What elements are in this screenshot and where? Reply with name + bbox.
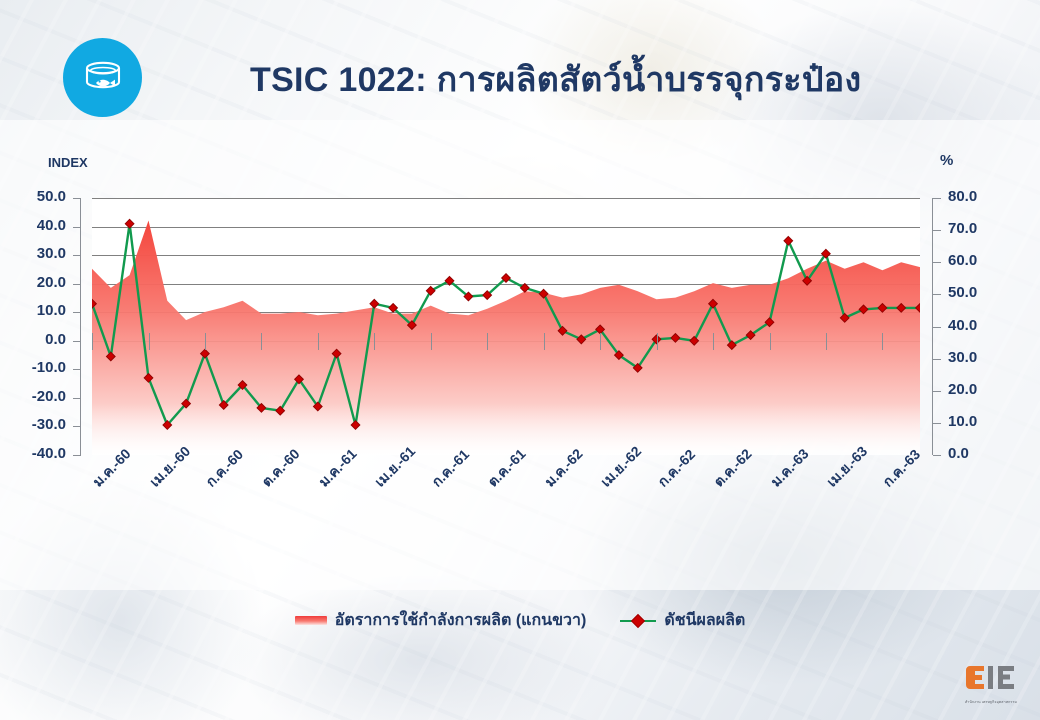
oie-caption-th1: สำนักงาน bbox=[965, 700, 981, 704]
axis-spine bbox=[80, 198, 81, 455]
y2-tick bbox=[933, 359, 941, 360]
y2-tick-label: 10.0 bbox=[948, 413, 1018, 430]
x-tick bbox=[826, 333, 827, 350]
x-tick bbox=[374, 333, 375, 350]
y-tick-label: 30.0 bbox=[0, 245, 66, 262]
page-title: TSIC 1022: การผลิตสัตว์น้ำบรรจุกระป๋อง bbox=[250, 52, 900, 106]
y-tick bbox=[73, 398, 81, 399]
legend-item-production-index[interactable]: ดัชนีผลผลิต bbox=[620, 608, 745, 633]
y2-tick bbox=[933, 230, 941, 231]
x-tick bbox=[487, 333, 488, 350]
y2-tick-label: 50.0 bbox=[948, 284, 1018, 301]
data-point-marker bbox=[426, 286, 435, 295]
y-tick-label: -10.0 bbox=[0, 359, 66, 376]
oie-logo: สำนักงาน เศรษฐกิจอุตสาหกรรม bbox=[952, 660, 1030, 712]
x-tick bbox=[770, 333, 771, 350]
y-tick-label: 0.0 bbox=[0, 331, 66, 348]
y2-tick bbox=[933, 423, 941, 424]
x-tick bbox=[318, 333, 319, 350]
y2-tick bbox=[933, 391, 941, 392]
x-tick bbox=[261, 333, 262, 350]
y2-tick bbox=[933, 327, 941, 328]
y-tick-label: 50.0 bbox=[0, 188, 66, 205]
y2-tick-label: 80.0 bbox=[948, 188, 1018, 205]
x-tick bbox=[149, 333, 150, 350]
plot-area bbox=[92, 198, 920, 455]
y2-tick-label: 30.0 bbox=[948, 349, 1018, 366]
y-tick-label: 20.0 bbox=[0, 274, 66, 291]
y2-tick-label: 20.0 bbox=[948, 381, 1018, 398]
oie-logo-caption: สำนักงาน เศรษฐกิจอุตสาหกรรม bbox=[952, 700, 1030, 705]
y2-tick-label: 40.0 bbox=[948, 317, 1018, 334]
x-tick bbox=[431, 333, 432, 350]
right-axis-caption: % bbox=[940, 152, 953, 169]
y2-tick-label: 70.0 bbox=[948, 220, 1018, 237]
chart-legend: อัตราการใช้กำลังการผลิต (แกนขวา) ดัชนีผล… bbox=[0, 608, 1040, 633]
x-tick bbox=[92, 333, 93, 350]
y-tick bbox=[73, 198, 81, 199]
data-point-marker bbox=[370, 299, 379, 308]
x-tick bbox=[657, 333, 658, 350]
data-point-marker bbox=[784, 236, 793, 245]
y2-tick bbox=[933, 198, 941, 199]
y-tick-label: -40.0 bbox=[0, 445, 66, 462]
y2-tick bbox=[933, 294, 941, 295]
area-swatch-icon bbox=[295, 616, 327, 625]
canned-fish-icon bbox=[63, 38, 142, 117]
x-tick bbox=[600, 333, 601, 350]
y-tick-label: 40.0 bbox=[0, 217, 66, 234]
y-tick bbox=[73, 455, 81, 456]
chart-canvas bbox=[92, 198, 920, 455]
y-tick-label: -30.0 bbox=[0, 416, 66, 433]
y2-tick-label: 60.0 bbox=[948, 252, 1018, 269]
y2-tick-label: 0.0 bbox=[948, 445, 1018, 462]
line-diamond-swatch-icon bbox=[620, 615, 656, 627]
x-tick bbox=[205, 333, 206, 350]
x-tick bbox=[544, 333, 545, 350]
header: TSIC 1022: การผลิตสัตว์น้ำบรรจุกระป๋อง bbox=[0, 0, 1040, 125]
oie-caption-th2: เศรษฐกิจอุตสาหกรรม bbox=[982, 700, 1017, 704]
x-tick bbox=[882, 333, 883, 350]
y-tick bbox=[73, 227, 81, 228]
y-tick-label: 10.0 bbox=[0, 302, 66, 319]
y-tick bbox=[73, 426, 81, 427]
x-tick bbox=[713, 333, 714, 350]
y-tick bbox=[73, 284, 81, 285]
y2-tick bbox=[933, 262, 941, 263]
y-tick bbox=[73, 255, 81, 256]
y-tick bbox=[73, 369, 81, 370]
y-tick bbox=[73, 312, 81, 313]
y2-tick bbox=[933, 455, 941, 456]
data-point-marker bbox=[125, 219, 134, 228]
left-axis-caption: INDEX bbox=[48, 155, 88, 170]
data-point-marker bbox=[520, 284, 529, 293]
y-tick bbox=[73, 341, 81, 342]
legend-label-capacity: อัตราการใช้กำลังการผลิต (แกนขวา) bbox=[335, 608, 587, 633]
legend-label-production-index: ดัชนีผลผลิต bbox=[664, 608, 745, 633]
legend-item-capacity[interactable]: อัตราการใช้กำลังการผลิต (แกนขวา) bbox=[295, 608, 587, 633]
y-tick-label: -20.0 bbox=[0, 388, 66, 405]
